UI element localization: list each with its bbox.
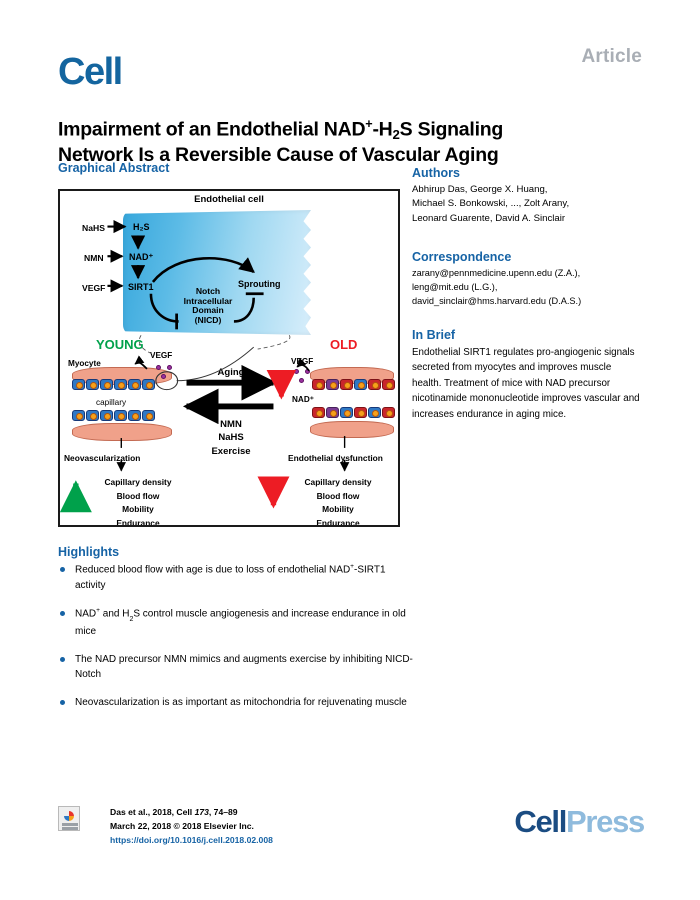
highlight-text: NAD [75,608,96,619]
in-brief-text: Endothelial SIRT1 regulates pro-angiogen… [412,345,640,422]
correspondence-heading: Correspondence [412,250,511,264]
callout-circle-young [156,372,178,390]
connector-dashed-left [139,335,155,355]
authors-line: Leonard Guarente, David A. Sinclair [412,212,642,226]
highlight-item: Reduced blood flow with age is due to lo… [58,562,413,593]
arrow-vegf-secretion-young [135,363,147,369]
cell-journal-logo: Cell [58,53,122,91]
cellpress-logo: CellPress [514,806,644,837]
in-brief-heading: In Brief [412,328,455,342]
authors-line: Abhirup Das, George X. Huang, [412,183,642,197]
doi-link[interactable]: https://doi.org/10.1016/j.cell.2018.02.0… [110,834,273,848]
highlights-heading: Highlights [58,545,119,559]
arrow-sirt1-to-sprouting [153,258,254,282]
crossmark-circle-icon [64,811,74,821]
arrow-sirt1-inhibits-nicd [151,294,179,322]
correspondence-email[interactable]: zarany@pennmedicine.upenn.edu (Z.A.), [412,267,647,281]
citation-block: Das et al., 2018, Cell 173, 74–89 March … [110,806,273,848]
highlights-list: Reduced blood flow with age is due to lo… [58,562,413,723]
crossmark-bar [62,827,78,830]
highlight-item: Neovascularization is as important as mi… [58,695,413,710]
authors-list: Abhirup Das, George X. Huang, Michael S.… [412,183,642,226]
correspondence-list: zarany@pennmedicine.upenn.edu (Z.A.), le… [412,267,647,309]
highlight-subscript: 2 [129,616,133,623]
authors-heading: Authors [412,166,460,180]
highlight-item: The NAD precursor NMN mimics and augment… [58,652,413,682]
citation-line-2: March 22, 2018 © 2018 Elsevier Inc. [110,820,273,834]
arrow-vegf-secretion-old [297,365,309,371]
highlight-item: NAD+ and H2S control muscle angiogenesis… [58,606,413,639]
crossmark-bar [62,823,78,826]
authors-line: Michael S. Bonkowski, ..., Zolt Arany, [412,197,642,211]
crossmark-badge-icon[interactable] [58,806,80,831]
cellpress-logo-light: Press [566,804,644,839]
citation-volume: 173 [195,807,209,817]
title-subscript: 2 [393,127,400,142]
citation-line-1: Das et al., 2018, Cell 173, 74–89 [110,806,273,820]
connector-callout-young [177,347,254,381]
graphical-abstract-figure: Endothelial cell NaHS NMN VEGF H₂S NAD⁺ … [58,189,400,527]
correspondence-email[interactable]: david_sinclair@hms.harvard.edu (D.A.S.) [412,295,647,309]
correspondence-email[interactable]: leng@mit.edu (L.G.), [412,281,647,295]
article-type-label: Article [581,46,642,68]
graphical-abstract-heading: Graphical Abstract [58,161,169,175]
highlight-text: Reduced blood flow with age is due to lo… [75,564,350,575]
cellpress-logo-dark: Cell [514,804,566,839]
arrow-nicd-inhibits-sprouting [234,298,254,322]
highlight-text: and H [100,608,129,619]
connector-dashed-right [258,335,290,349]
diagram-arrows-overlay [60,191,398,525]
